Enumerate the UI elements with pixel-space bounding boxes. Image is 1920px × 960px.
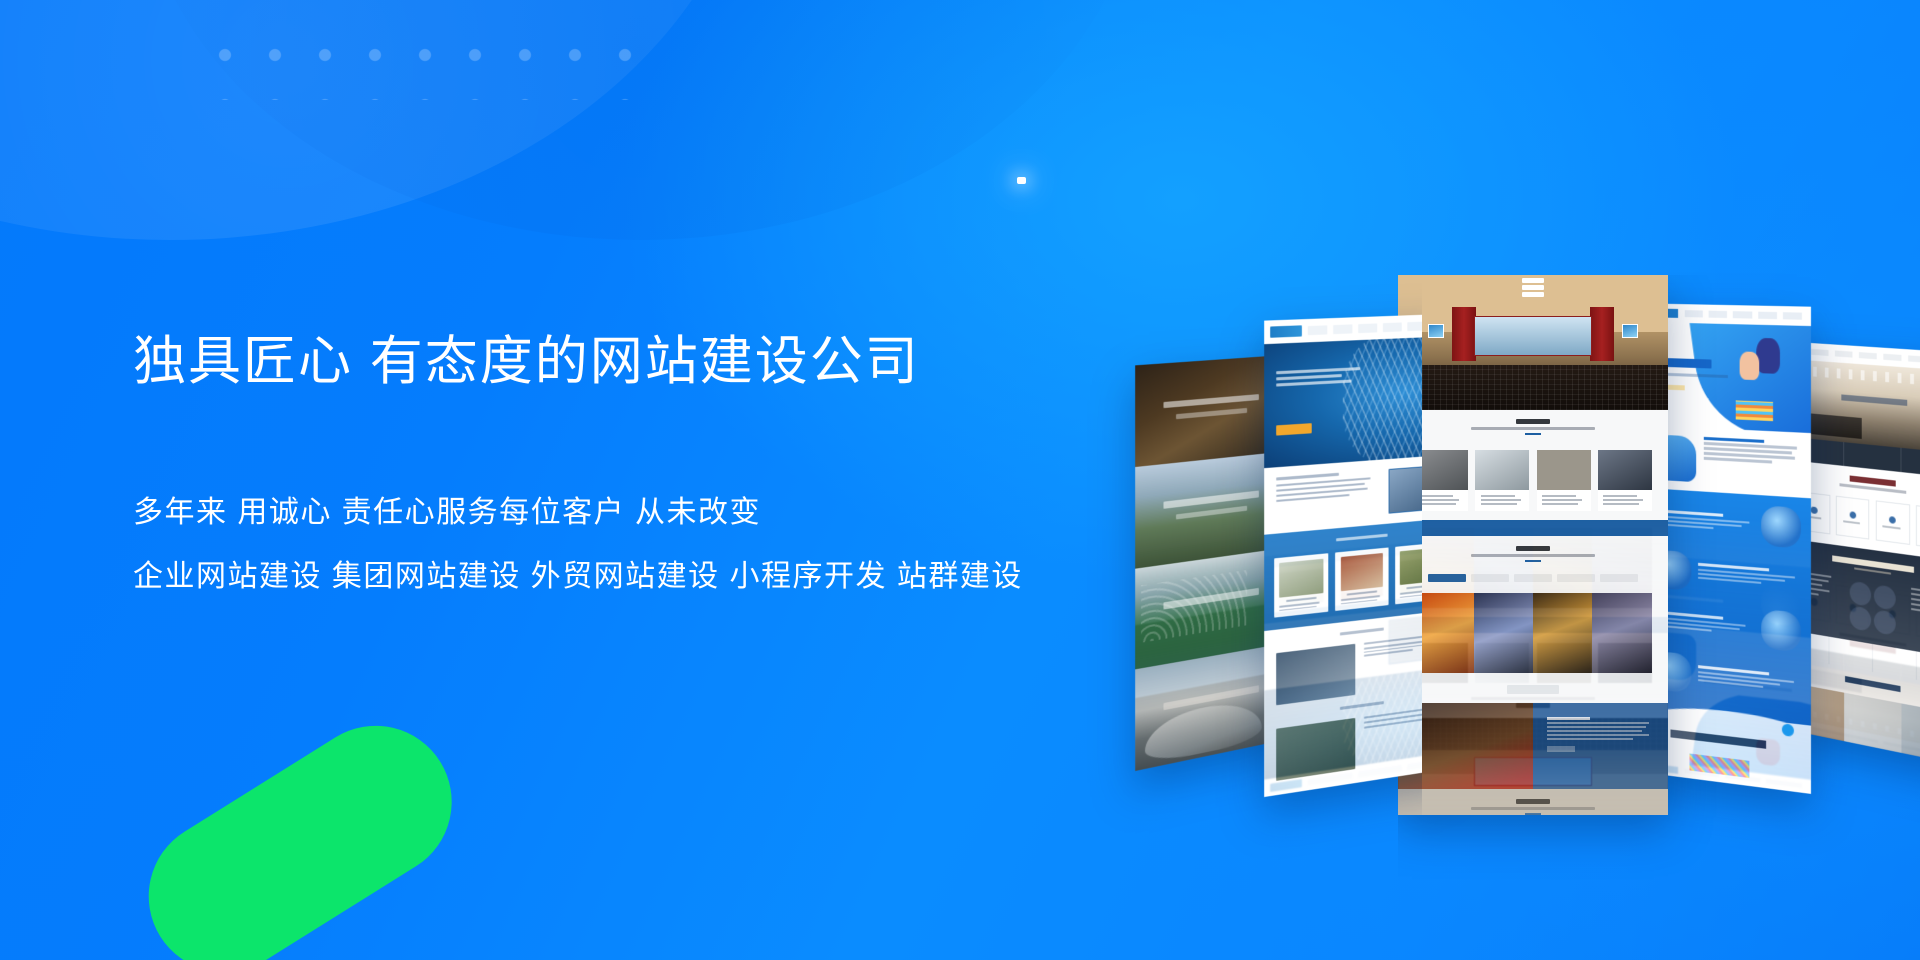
dot-grid-pattern-icon [200, 30, 660, 100]
mockup-section-products [1398, 536, 1668, 703]
light-sparkle-icon [1017, 177, 1026, 184]
website-mockup-1-sports-venue[interactable] [1135, 355, 1285, 771]
banner-subtitles: 多年来 用诚心 责任心服务每位客户 从未改变 企业网站建设 集团网站建设 外贸网… [133, 498, 1133, 592]
banner-subtitle-2: 企业网站建设 集团网站建设 外贸网站建设 小程序开发 站群建设 [133, 562, 1133, 592]
website-mockup-carousel [1140, 255, 1920, 815]
website-mockup-3-theatre[interactable] [1398, 275, 1668, 815]
background-swoosh-dark [140, 0, 1140, 240]
green-diagonal-pill-shape [120, 697, 480, 960]
mockup-section-intro [1398, 703, 1668, 789]
mockup-section-stage-machinery [1398, 789, 1668, 815]
page-title: 独具匠心 有态度的网站建设公司 [133, 330, 1133, 394]
mockup-section-advantages [1398, 410, 1668, 520]
banner-copy: 独具匠心 有态度的网站建设公司 多年来 用诚心 责任心服务每位客户 从未改变 企… [133, 330, 1133, 592]
hero-banner: 独具匠心 有态度的网站建设公司 多年来 用诚心 责任心服务每位客户 从未改变 企… [0, 0, 1920, 960]
banner-subtitle-1: 多年来 用诚心 责任心服务每位客户 从未改变 [133, 498, 1133, 528]
website-mockup-4-english-learning[interactable] [1644, 303, 1811, 794]
background-swoosh-light [0, 0, 760, 240]
